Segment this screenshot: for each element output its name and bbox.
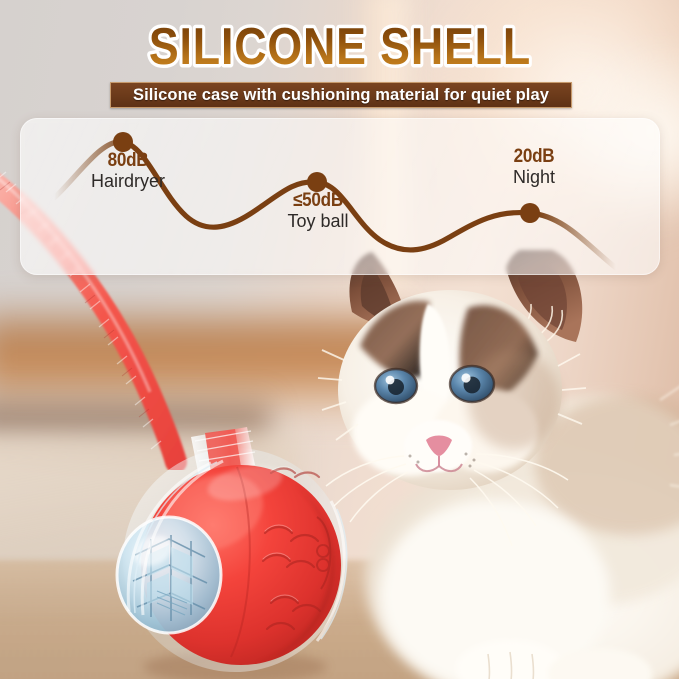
subtitle-text: Silicone case with cushioning material f… xyxy=(133,86,549,105)
data-point-hairdryer xyxy=(113,132,133,152)
data-point-night xyxy=(520,203,540,223)
data-point-toy-ball xyxy=(307,172,327,192)
silicone-ball-toy xyxy=(95,405,365,679)
subtitle-banner: Silicone case with cushioning material f… xyxy=(110,82,572,108)
noise-comparison-card: 80dB Hairdryer ≤50dB Toy ball 20dB Night xyxy=(20,118,660,275)
product-infographic: SILICONE SHELL Silicone case with cushio… xyxy=(0,0,679,679)
noise-level-chart xyxy=(20,118,660,275)
page-title: SILICONE SHELL xyxy=(48,18,632,76)
svg-text:SILICONE SHELL: SILICONE SHELL xyxy=(148,18,530,76)
